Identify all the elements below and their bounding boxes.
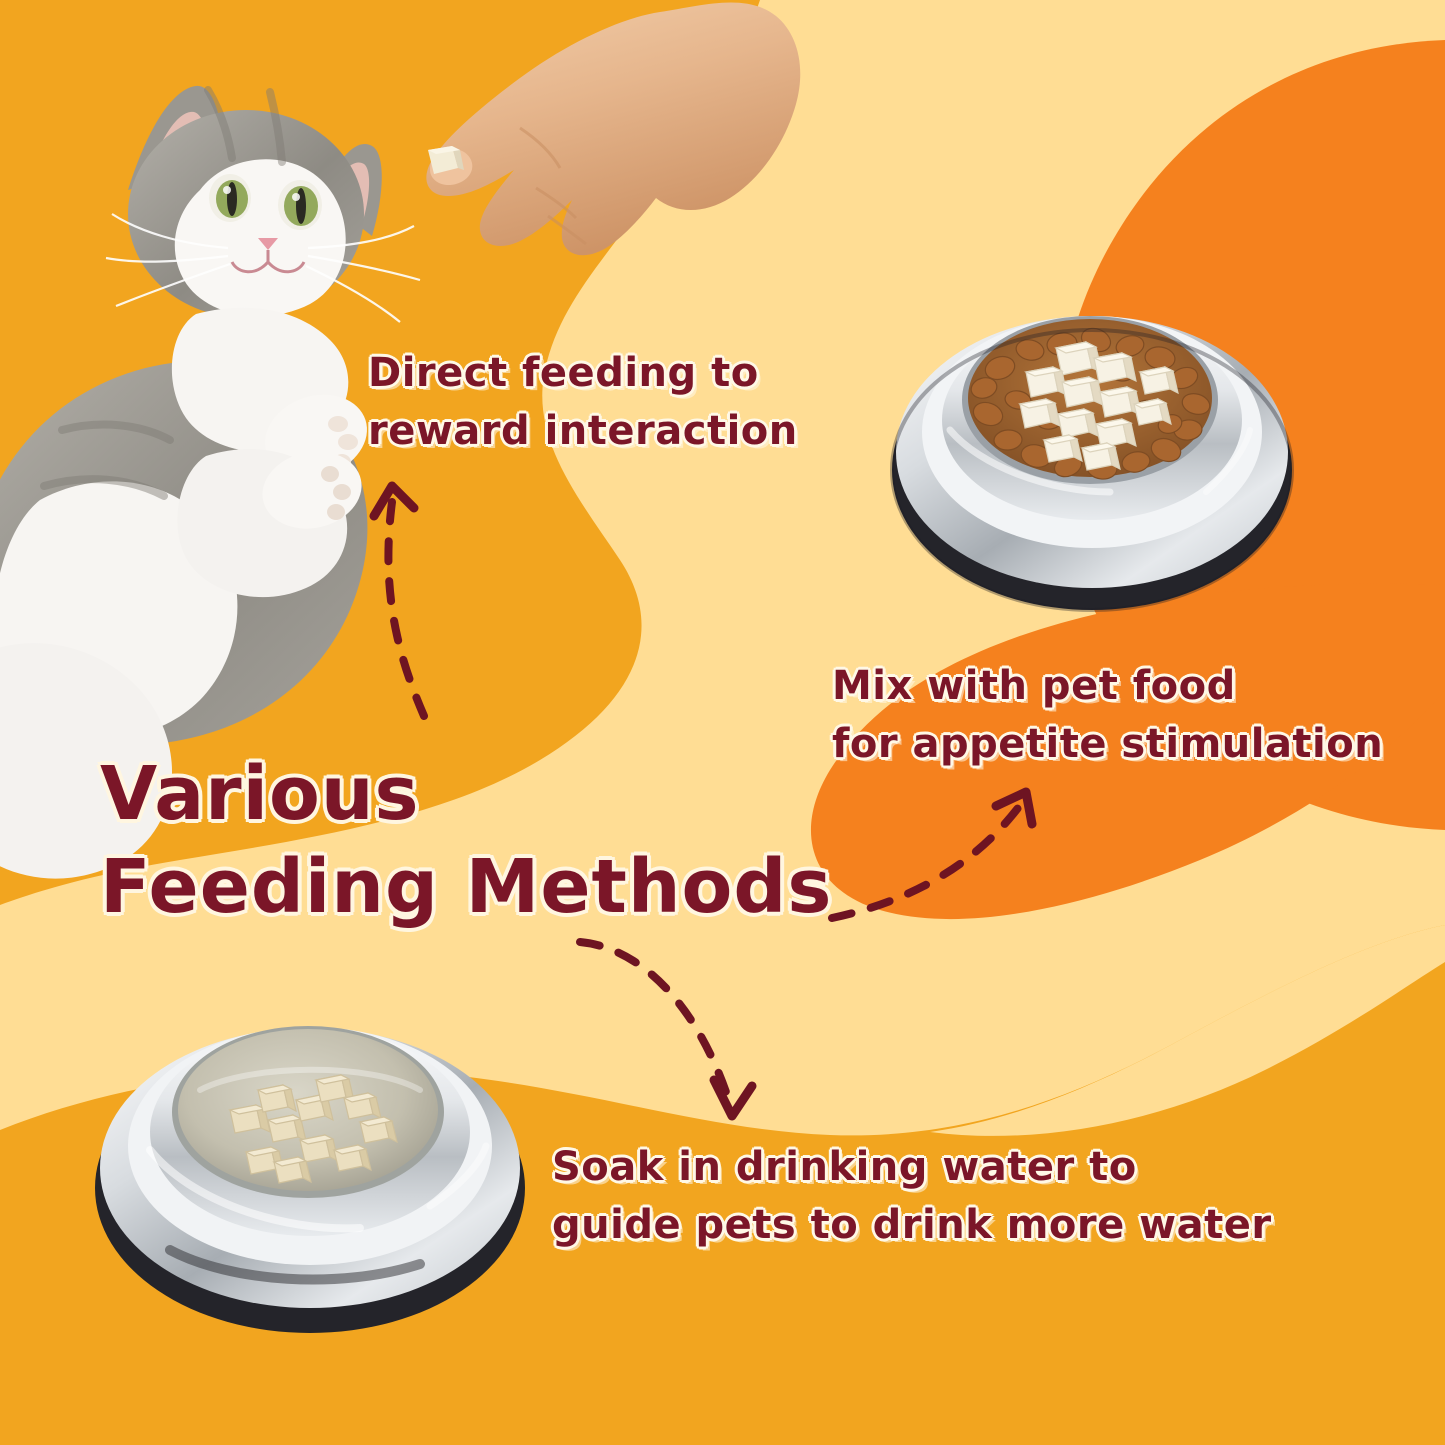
arrow-path-direct [388,502,424,716]
arrow-path-mix [832,808,1018,918]
arrow-head-soak [714,1080,752,1116]
poster-canvas: Direct feeding to reward interaction Mix… [0,0,1445,1445]
callout-direct-feeding: Direct feeding to reward interaction [368,344,798,460]
callout-soak-in-water: Soak in drinking water to guide pets to … [552,1138,1272,1254]
arrow-path-soak [580,942,730,1104]
page-title: Various Feeding Methods [100,748,832,933]
callout-mix-with-pet-food: Mix with pet food for appetite stimulati… [832,657,1383,773]
